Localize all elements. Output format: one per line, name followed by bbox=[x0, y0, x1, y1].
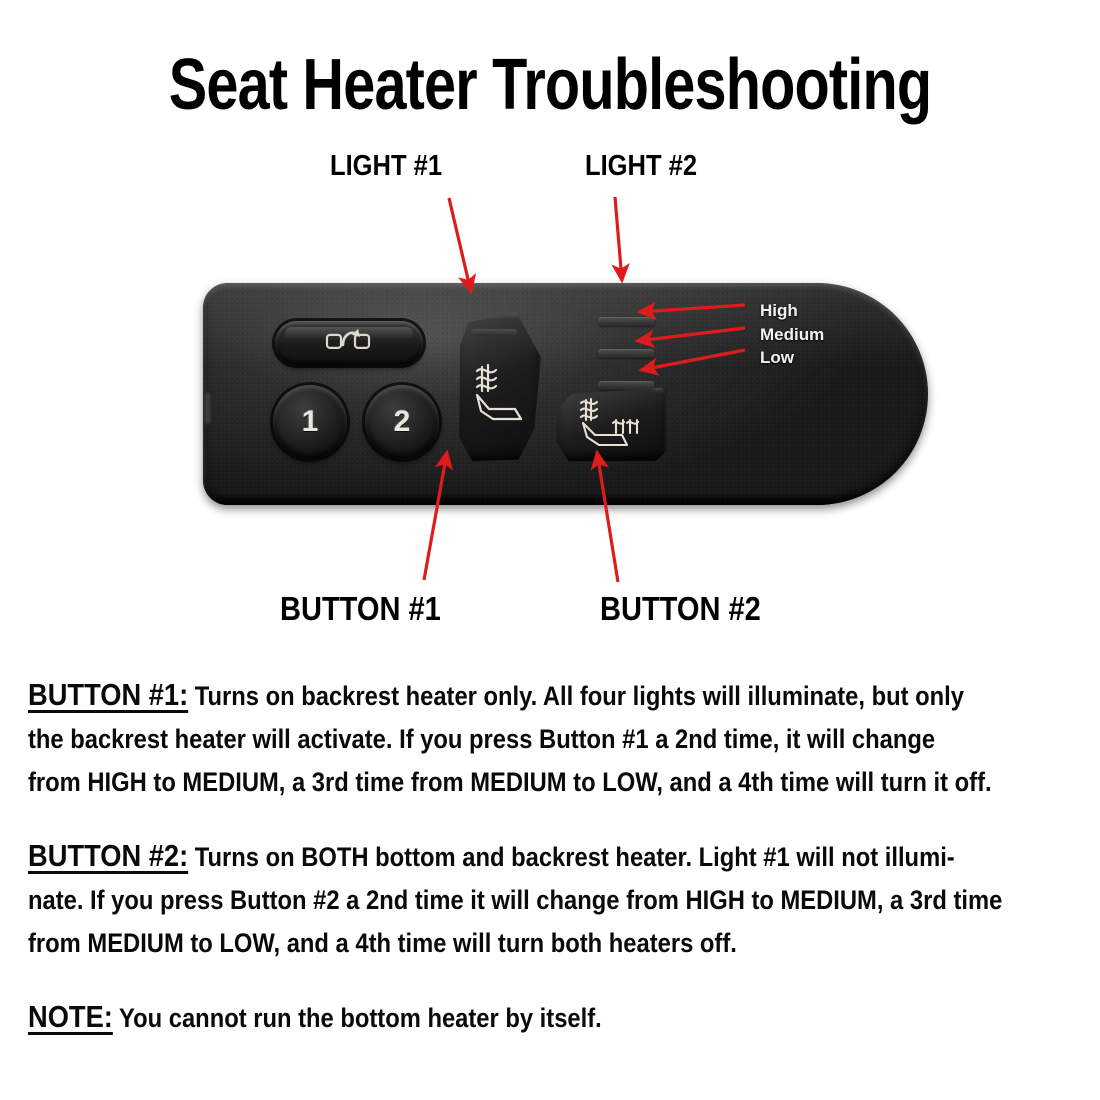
paragraph-note-lead: NOTE: bbox=[28, 999, 113, 1034]
body-copy: BUTTON #1: Turns on backrest heater only… bbox=[28, 676, 1074, 1073]
memory-preset-1-button[interactable]: 1 bbox=[273, 385, 347, 459]
panel-side-nub bbox=[203, 391, 212, 425]
led-indicator-low bbox=[598, 381, 654, 390]
paragraph-button-1-text-1: Turns on backrest heater only. All four … bbox=[188, 681, 964, 711]
led-label-low: Low bbox=[760, 348, 794, 368]
paragraph-button-2-line-2: nate. If you press Button #2 a 2nd time … bbox=[28, 882, 948, 919]
seat-and-backrest-heater-icon bbox=[575, 397, 653, 458]
callout-label-button-2: BUTTON #2 bbox=[600, 590, 761, 628]
paragraph-button-1-line-2: the backrest heater will activate. If yo… bbox=[28, 721, 948, 758]
paragraph-note-text-1: You cannot run the bottom heater by itse… bbox=[113, 1003, 602, 1033]
paragraph-button-2-lead: BUTTON #2: bbox=[28, 838, 188, 873]
heater-button-2[interactable] bbox=[555, 387, 667, 461]
rocker-slot bbox=[471, 329, 517, 336]
arrow-light-2 bbox=[615, 197, 622, 281]
paragraph-button-1-line-1: BUTTON #1: Turns on backrest heater only… bbox=[28, 676, 948, 715]
seat-control-panel: 1 2 bbox=[195, 275, 935, 510]
memory-preset-2-button[interactable]: 2 bbox=[365, 385, 439, 459]
paragraph-button-2-line-3: from MEDIUM to LOW, and a 4th time will … bbox=[28, 925, 948, 962]
paragraph-note: NOTE: You cannot run the bottom heater b… bbox=[28, 998, 1074, 1037]
backrest-heater-icon bbox=[463, 361, 533, 438]
led-label-high: High bbox=[760, 301, 798, 321]
led-indicator-high bbox=[598, 317, 654, 326]
paragraph-button-1-lead: BUTTON #1: bbox=[28, 677, 188, 712]
memory-preset-2-label: 2 bbox=[394, 405, 411, 439]
seat-memory-icon bbox=[321, 326, 377, 359]
callout-label-light-2: LIGHT #2 bbox=[585, 150, 697, 183]
memory-preset-1-label: 1 bbox=[302, 405, 319, 439]
paragraph-button-2: BUTTON #2: Turns on BOTH bottom and back… bbox=[28, 837, 1074, 962]
page-title: Seat Heater Troubleshooting bbox=[110, 48, 990, 122]
led-indicator-medium bbox=[598, 349, 654, 358]
led-label-medium: Medium bbox=[760, 325, 824, 345]
panel-housing: 1 2 bbox=[203, 283, 928, 505]
callout-label-button-1: BUTTON #1 bbox=[280, 590, 441, 628]
paragraph-button-2-line-1: BUTTON #2: Turns on BOTH bottom and back… bbox=[28, 837, 948, 876]
callout-label-light-1: LIGHT #1 bbox=[330, 150, 442, 183]
heater-button-1[interactable] bbox=[455, 313, 541, 461]
seat-memory-set-button[interactable] bbox=[275, 321, 423, 365]
paragraph-button-2-text-1: Turns on BOTH bottom and backrest heater… bbox=[188, 842, 955, 872]
paragraph-note-line-1: NOTE: You cannot run the bottom heater b… bbox=[28, 998, 948, 1037]
paragraph-button-1: BUTTON #1: Turns on backrest heater only… bbox=[28, 676, 1074, 801]
paragraph-button-1-line-3: from HIGH to MEDIUM, a 3rd time from MED… bbox=[28, 764, 948, 801]
page-root: Seat Heater Troubleshooting LIGHT #1 LIG… bbox=[0, 0, 1100, 1100]
panel-bottom-lip bbox=[213, 493, 913, 505]
